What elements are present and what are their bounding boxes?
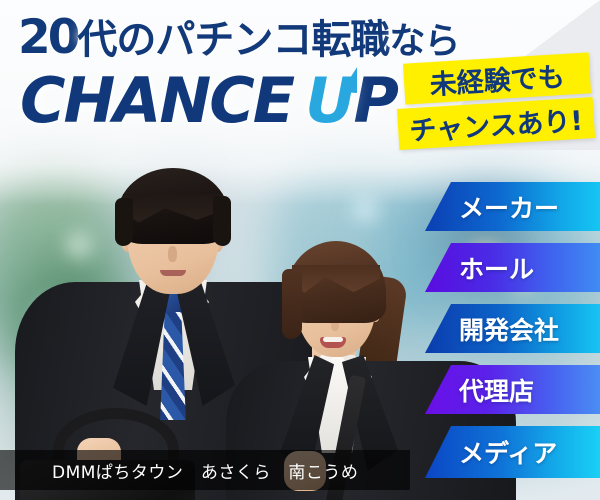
category-bar-agency[interactable]: 代理店 (425, 365, 600, 414)
credit-caption-text: DMMぱちタウン あさくら 南こうめ (52, 458, 358, 483)
category-label: 開発会社 (459, 311, 559, 347)
category-label: メディア (459, 434, 557, 470)
category-bar-hall[interactable]: ホール (425, 243, 600, 292)
category-label: 代理店 (459, 372, 534, 408)
category-bar-developer[interactable]: 開発会社 (425, 304, 600, 353)
category-bar-maker[interactable]: メーカー (425, 182, 600, 231)
category-bar-media[interactable]: メディア (425, 426, 600, 478)
category-bar-list: メーカー ホール 開発会社 代理店 メディア (0, 0, 600, 500)
category-label: メーカー (459, 189, 559, 225)
category-label: ホール (459, 250, 534, 286)
credit-caption: DMMぱちタウン あさくら 南こうめ (0, 450, 410, 490)
advertisement-banner[interactable]: 20代のパチンコ転職なら CHANCEUP 未経験でも チャンスあり! メーカー… (0, 0, 600, 500)
